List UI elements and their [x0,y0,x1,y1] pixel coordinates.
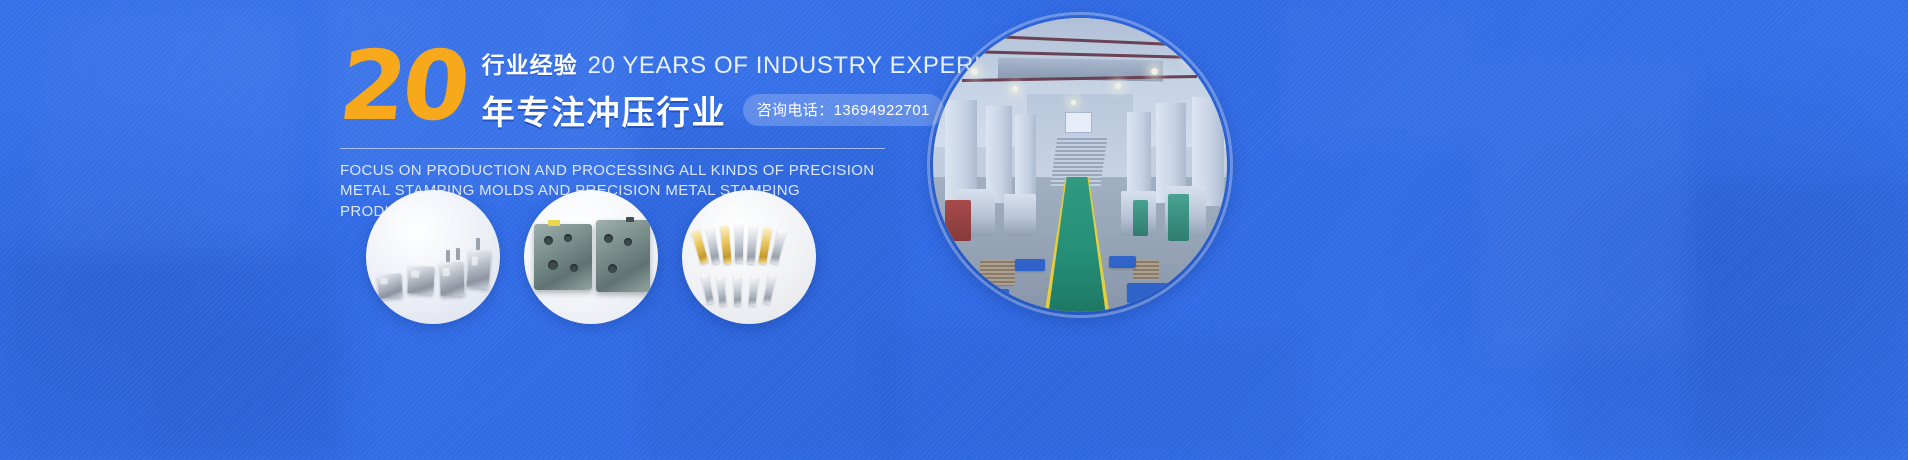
terminal-pin-icon [747,226,758,264]
terminal-pin-icon [701,274,714,305]
mold-hole [608,264,617,273]
terminal-pin-icon [706,228,720,265]
photo-color-tint [933,18,1227,312]
terminal-pin-icon [716,276,726,307]
connector-pin-icon [476,238,480,250]
mold-accent [548,220,560,226]
mold-plate-icon [596,220,650,292]
connector-shell-icon [439,262,464,297]
mold-hole [570,264,578,272]
mold-accent [626,217,634,222]
connector-shell-icon [466,249,491,289]
connector-pin-icon [446,250,450,262]
terminal-pin-icon [748,276,758,307]
mold-plate-icon [534,224,592,290]
product-circle-precision-stamping-mold[interactable] [524,190,658,324]
terminal-pin-icon [735,225,743,263]
factory-workshop-photo[interactable] [933,18,1227,312]
connector-pin-icon [456,248,460,260]
terminal-pin-icon [770,230,786,265]
terminal-pin-icon [763,274,776,305]
product-circle-metal-terminal-pins[interactable] [682,190,816,324]
phone-badge[interactable]: 咨询电话：13694922701 [743,94,944,126]
connector-shell-icon [407,265,434,294]
headline-cn-main: 年专注冲压行业 [482,86,727,134]
mold-hole [604,234,613,243]
headline-divider [340,148,885,149]
mold-hole [564,234,572,242]
product-circle-usb-connector-shells[interactable] [366,190,500,324]
promo-banner: 20 行业经验 20 YEARS OF INDUSTRY EXPERIENCE … [0,0,1908,460]
mold-hole [544,236,553,245]
mold-hole [548,260,558,270]
product-circle-group [366,190,816,324]
connector-shell-icon [377,273,403,299]
terminal-pin-icon [720,226,731,265]
years-number: 20 [336,46,470,128]
mold-hole [624,238,632,246]
terminal-pin-icon [734,276,741,306]
headline-cn-subtitle: 行业经验 [482,46,578,80]
